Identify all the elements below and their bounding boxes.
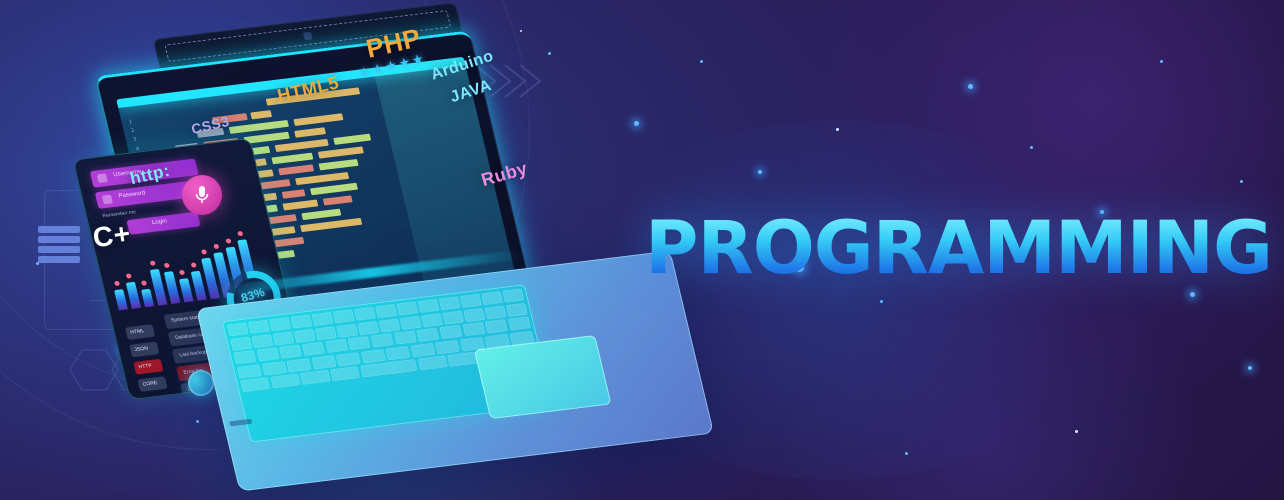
keyboard-key[interactable] — [361, 349, 386, 363]
keyboard-key[interactable] — [439, 325, 462, 339]
background-glow-bottom-right — [764, 260, 1224, 500]
chart-bar — [114, 289, 128, 310]
keyboard-key[interactable] — [379, 318, 400, 332]
keyboard-key[interactable] — [302, 342, 325, 356]
keyboard-key[interactable] — [435, 340, 460, 354]
keyboard-key[interactable] — [485, 305, 506, 319]
keyboard-key[interactable] — [506, 302, 527, 316]
code-line — [271, 153, 313, 165]
star-dot — [1030, 146, 1033, 149]
line-number: 3 — [133, 137, 137, 143]
star-dot — [758, 170, 762, 174]
trend-point — [213, 244, 219, 249]
keyboard-key[interactable] — [333, 309, 354, 323]
keyboard-key[interactable] — [394, 330, 417, 344]
tag-item-label: CORE — [142, 380, 158, 388]
keyboard-key[interactable] — [447, 352, 477, 367]
keyboard-key[interactable] — [300, 370, 330, 385]
keyboard-key[interactable] — [312, 312, 333, 326]
tag-item-label: HTML — [130, 328, 145, 335]
code-line — [323, 195, 353, 205]
star-dot — [1190, 292, 1195, 297]
trackpad[interactable] — [474, 335, 612, 419]
lock-icon — [102, 195, 113, 205]
trend-point — [191, 262, 197, 267]
keyboard-key[interactable] — [410, 343, 435, 357]
keyboard-key[interactable] — [315, 326, 336, 340]
code-line — [270, 226, 296, 236]
keyboard-key[interactable] — [256, 347, 279, 361]
code-line — [275, 139, 329, 152]
list-item-label: Last backup — [179, 349, 208, 358]
code-line — [278, 164, 314, 175]
line-number: 2 — [131, 128, 135, 134]
keyboard-key[interactable] — [240, 377, 270, 392]
keyboard-key[interactable] — [279, 345, 302, 359]
code-line — [300, 218, 362, 232]
user-icon — [97, 173, 108, 183]
login-button[interactable]: Login — [126, 212, 200, 235]
star-dot — [1240, 180, 1243, 183]
star-dot — [520, 30, 522, 32]
star-dot — [1160, 60, 1163, 63]
trend-point — [201, 249, 207, 254]
keyboard-key[interactable] — [227, 322, 248, 336]
keyboard-key[interactable] — [462, 322, 485, 336]
code-line — [301, 209, 341, 220]
keyboard-key[interactable] — [485, 319, 508, 333]
keyboard-key[interactable] — [273, 331, 294, 345]
star-dot — [1075, 430, 1078, 433]
microphone-button[interactable] — [182, 175, 222, 215]
star-dot — [836, 128, 839, 131]
keyboard-key[interactable] — [230, 336, 251, 350]
tag-item-label: JSON — [134, 346, 149, 353]
keyboard-key[interactable] — [508, 316, 531, 330]
trend-point — [126, 273, 132, 278]
trend-point — [150, 260, 156, 265]
keyboard-key[interactable] — [290, 315, 311, 329]
keyboard-key[interactable] — [286, 358, 311, 372]
star-dot — [968, 84, 973, 89]
star-dot — [905, 452, 908, 455]
code-line — [295, 172, 349, 185]
keyboard-key[interactable] — [371, 333, 394, 347]
tag-item[interactable]: HTTP — [133, 359, 163, 375]
keyboard-key[interactable] — [251, 334, 272, 348]
keyboard-key[interactable] — [460, 294, 481, 308]
keyboard-key[interactable] — [439, 296, 460, 310]
microphone-icon — [194, 185, 210, 205]
code-line — [333, 134, 371, 145]
code-line — [273, 237, 305, 247]
keyboard-key[interactable] — [421, 313, 442, 327]
tag-item[interactable]: CORE — [137, 376, 167, 392]
code-line — [293, 113, 343, 126]
keyboard-key[interactable] — [294, 329, 315, 343]
code-line — [310, 183, 358, 195]
keyboard-key[interactable] — [269, 317, 290, 331]
keyboard-key[interactable] — [336, 352, 361, 366]
trend-point — [179, 270, 185, 275]
trend-point — [114, 281, 120, 286]
code-line — [319, 159, 359, 170]
keyboard-key[interactable] — [416, 328, 439, 342]
keyboard-key[interactable] — [375, 304, 396, 318]
programming-banner: 1234567891011121314151617181920212223242… — [0, 0, 1284, 500]
tag-item[interactable]: JSON — [129, 341, 159, 357]
laptop-illustration: 1234567891011121314151617181920212223242… — [70, 40, 710, 470]
tag-item[interactable]: HTML — [125, 324, 155, 340]
keyboard-key[interactable] — [442, 310, 463, 324]
keyboard-key[interactable] — [503, 289, 524, 303]
background-glow-top-right — [784, 0, 1284, 400]
keyboard-key[interactable] — [464, 308, 485, 322]
keyboard-key[interactable] — [248, 320, 269, 334]
tech-label-cplus: C+ — [91, 218, 133, 255]
keyboard-key[interactable] — [270, 373, 300, 388]
code-line — [244, 132, 290, 144]
keyboard-key[interactable] — [325, 339, 348, 353]
keyboard-key[interactable] — [233, 350, 256, 364]
chart-bar — [179, 278, 194, 302]
keyboard-key[interactable] — [397, 302, 418, 316]
keyboard-key[interactable] — [417, 355, 447, 370]
keyboard-key[interactable] — [348, 336, 371, 350]
keyboard-key[interactable] — [311, 355, 336, 369]
trend-point — [237, 231, 243, 236]
keyboard-key[interactable] — [400, 316, 421, 330]
line-number: 1 — [128, 119, 132, 125]
keyboard-key[interactable] — [330, 366, 360, 381]
trend-point — [164, 263, 170, 268]
code-line — [250, 110, 272, 119]
code-line — [318, 146, 364, 158]
keyboard-key[interactable] — [262, 361, 287, 375]
trend-point — [141, 280, 147, 285]
code-line — [282, 200, 318, 211]
page-title: PROGRAMMING — [645, 212, 1272, 285]
star-dot — [1248, 366, 1252, 370]
keyboard-key[interactable] — [385, 346, 410, 360]
webcam-icon — [303, 32, 313, 41]
chart-bar — [141, 289, 154, 307]
code-line — [294, 127, 326, 137]
tag-item-label: HTTP — [138, 363, 153, 370]
keyboard-key[interactable] — [237, 364, 262, 378]
keyboard-key[interactable] — [336, 323, 357, 337]
keyboard-key[interactable] — [482, 291, 503, 305]
trend-point — [225, 238, 231, 243]
keyboard-key[interactable] — [357, 321, 378, 335]
code-line — [259, 179, 291, 189]
keyboard-key[interactable] — [418, 299, 439, 313]
star-dot — [880, 300, 883, 303]
keyboard-key[interactable] — [354, 307, 375, 321]
code-line — [282, 189, 306, 198]
chart-bar — [126, 282, 141, 309]
star-dot — [36, 262, 39, 265]
